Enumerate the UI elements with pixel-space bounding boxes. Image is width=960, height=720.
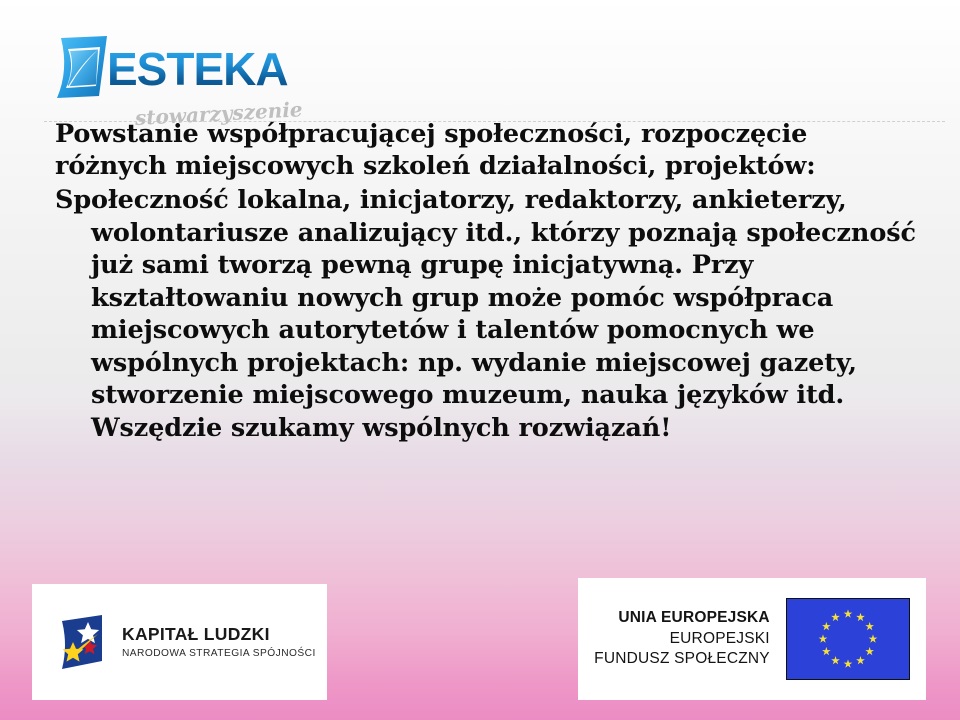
kapital-ludzki-logo: KAPITAŁ LUDZKI NARODOWA STRATEGIA SPÓJNO…	[32, 584, 327, 700]
body-paragraph: Społeczność lokalna, inicjatorzy, redakt…	[55, 184, 925, 444]
lead-paragraph: Powstanie współpracującej społeczności, …	[55, 118, 925, 182]
unia-europejska-logo: UNIA EUROPEJSKA EUROPEJSKI FUNDUSZ SPOŁE…	[578, 578, 926, 700]
eu-flag-icon	[786, 598, 910, 680]
esteka-wordmark: ESTEKA	[107, 46, 288, 92]
esteka-logo: ESTEKA stowarzyszenie	[55, 32, 285, 110]
ue-line-2: EUROPEJSKI	[594, 629, 770, 650]
kapital-ludzki-subtitle: NARODOWA STRATEGIA SPÓJNOŚCI	[122, 648, 316, 659]
kapital-ludzki-title: KAPITAŁ LUDZKI	[122, 625, 316, 644]
ue-line-1: UNIA EUROPEJSKA	[594, 608, 770, 629]
kapital-ludzki-stars-emblem-icon	[58, 615, 106, 669]
ue-line-3: FUNDUSZ SPOŁECZNY	[594, 649, 770, 670]
esteka-flag-mark-icon	[55, 34, 111, 102]
slide-canvas: ESTEKA stowarzyszenie Powstanie współpra…	[0, 0, 960, 720]
text-placeholder[interactable]: Powstanie współpracującej społeczności, …	[55, 118, 925, 444]
